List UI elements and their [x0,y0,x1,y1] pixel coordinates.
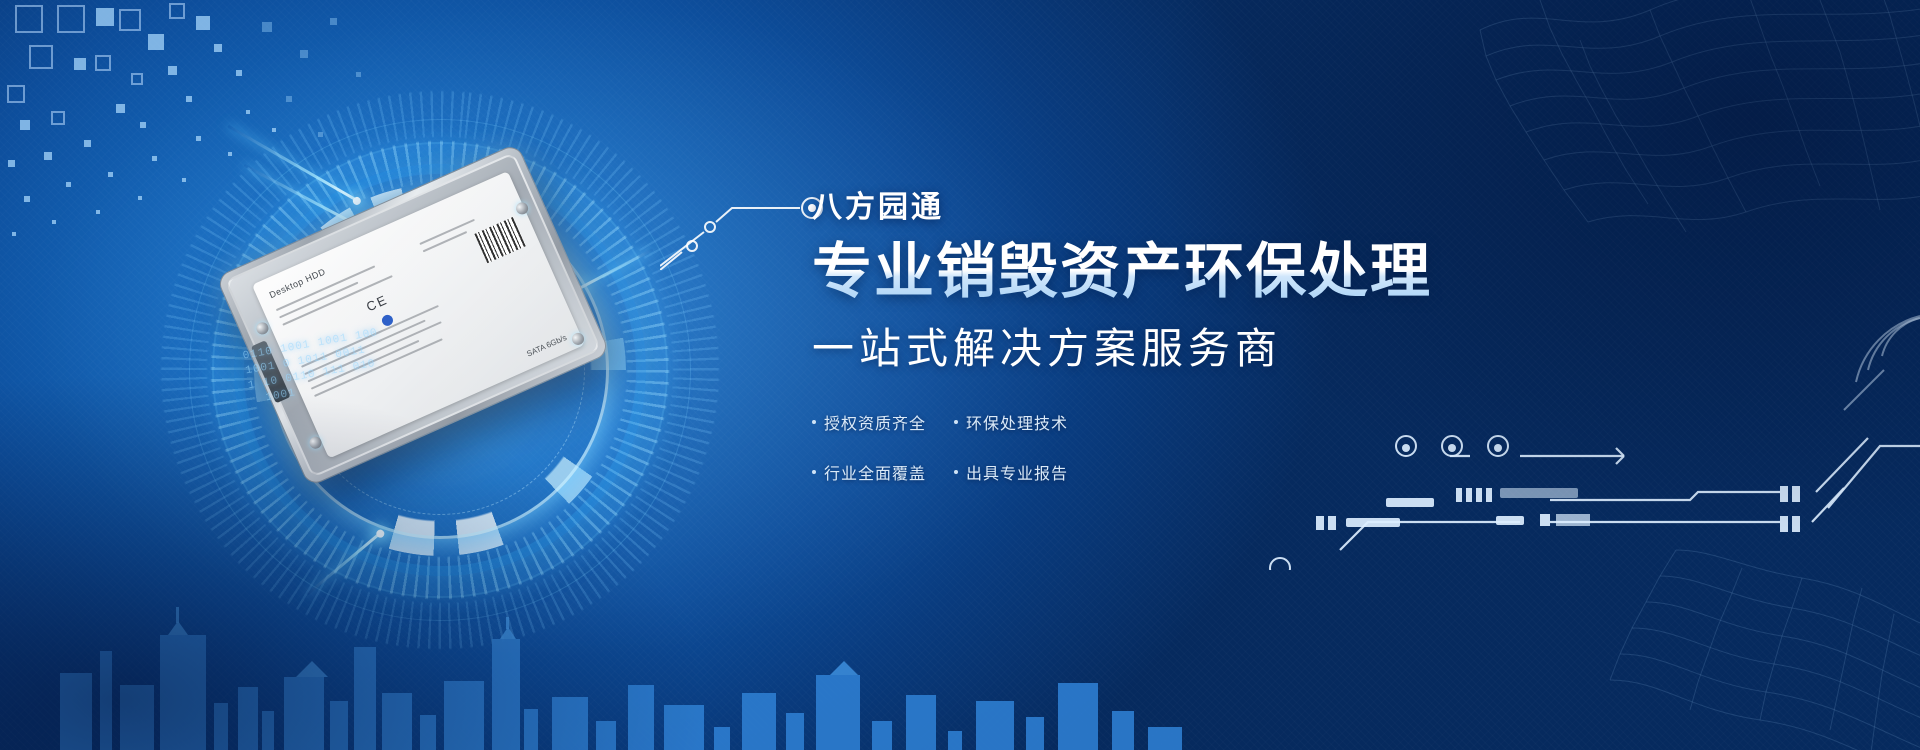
feature-list: 授权资质齐全 环保处理技术 行业全面覆盖 出具专业报告 [812,410,1112,484]
hdd-barcode [474,217,525,263]
headline: 专业销毁资产环保处理 [812,240,1572,303]
feature-item-2: 环保处理技术 [954,410,1082,434]
feature-item-3: 行业全面覆盖 [812,460,940,484]
feature-label: 出具专业报告 [966,460,1068,484]
hero-banner: Desktop HDD CE SATA 6Gb/s 0110 1001 1001… [0,0,1920,750]
feature-label: 环保处理技术 [966,410,1068,434]
bullet-icon [812,420,816,424]
feature-label: 行业全面覆盖 [824,460,926,484]
feature-item-1: 授权资质齐全 [812,410,940,434]
brand-name: 八方园通 [812,182,1572,226]
bullet-icon [954,420,958,424]
bullet-icon [812,470,816,474]
feature-item-4: 出具专业报告 [954,460,1082,484]
hdd-label-code: SATA 6Gb/s [525,333,568,359]
hero-copy-block: 八方园通 专业销毁资产环保处理 一站式解决方案服务商 授权资质齐全 环保处理技术… [812,182,1572,484]
bullet-icon [954,470,958,474]
subheadline: 一站式解决方案服务商 [812,315,1572,376]
feature-label: 授权资质齐全 [824,410,926,434]
hdd-ce-mark: CE [364,292,390,315]
